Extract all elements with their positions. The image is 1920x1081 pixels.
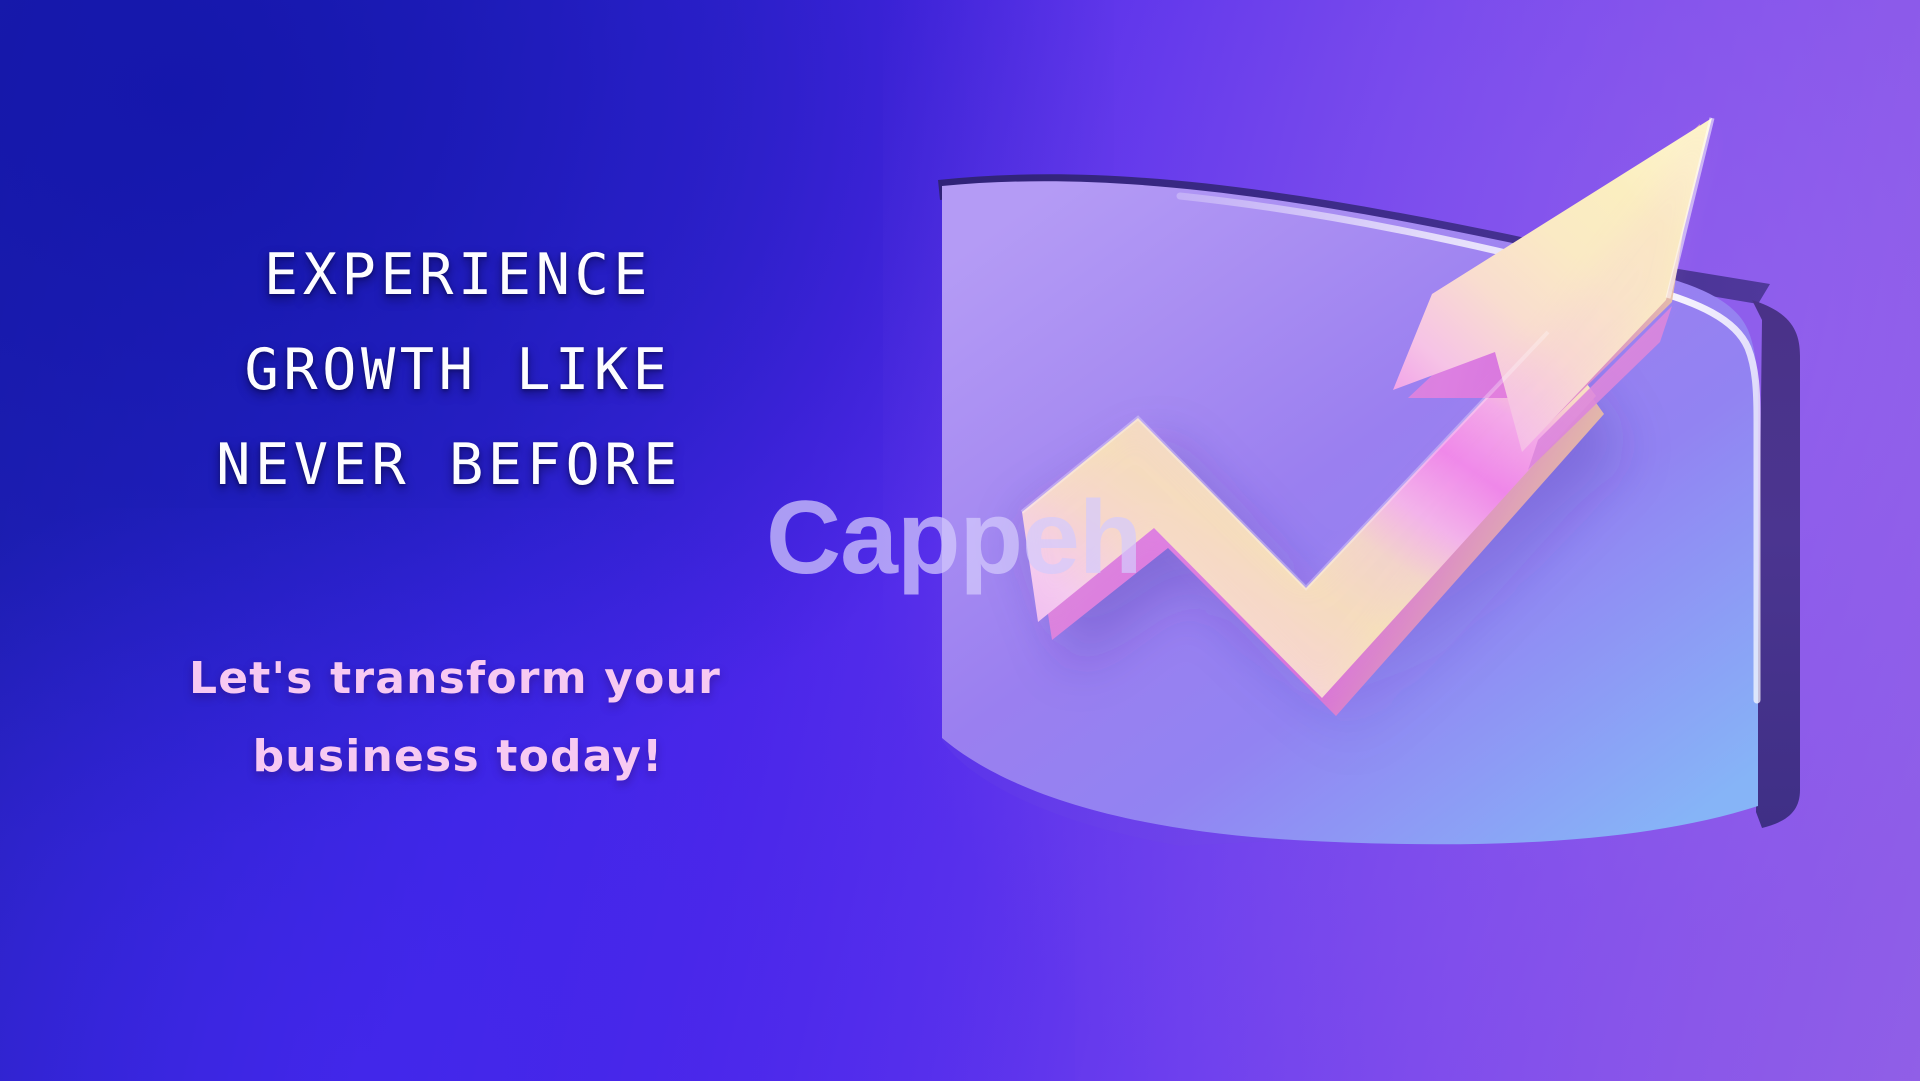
page-title: EXPERIENCE GROWTH LIKE NEVER BEFORE (138, 228, 778, 513)
subtitle-line-2: business today! (138, 718, 778, 796)
headline-line-3: NEVER BEFORE (120, 418, 778, 513)
banner-copy: EXPERIENCE GROWTH LIKE NEVER BEFORE Let'… (0, 0, 860, 1081)
headline-line-2: GROWTH LIKE (138, 323, 778, 418)
subtitle-line-1: Let's transform your (132, 640, 778, 718)
banner-subtitle: Let's transform your business today! (138, 640, 778, 796)
headline-line-1: EXPERIENCE (138, 228, 778, 323)
banner-canvas: EXPERIENCE GROWTH LIKE NEVER BEFORE Let'… (0, 0, 1920, 1081)
